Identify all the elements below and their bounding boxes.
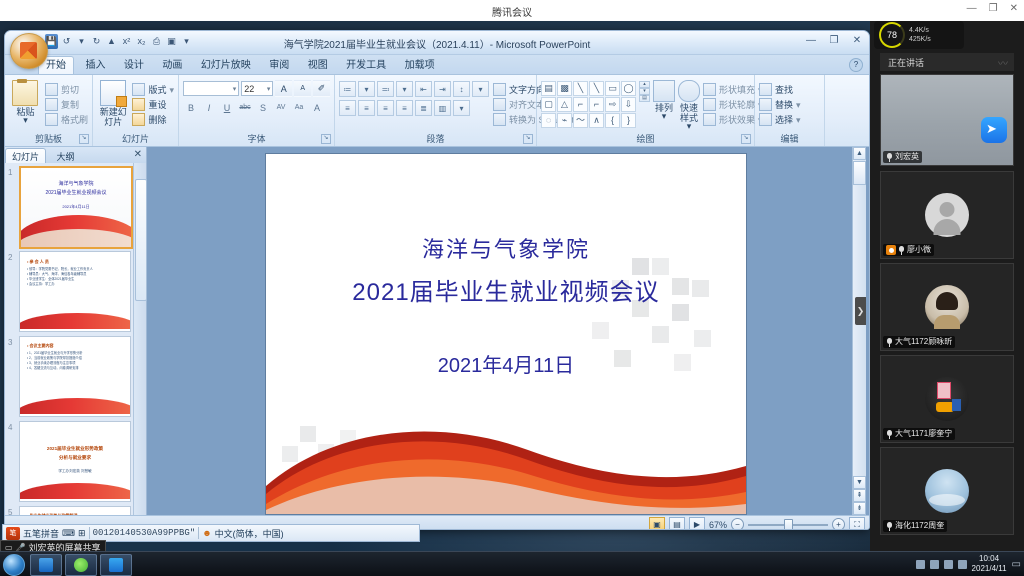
- slide-thumbnail-3[interactable]: • 会议主要内容 • 1、2021届毕业生就业与升学形势分析 • 2、当前就业政…: [19, 336, 131, 417]
- scroll-up-icon[interactable]: ▲: [853, 147, 866, 160]
- start-button[interactable]: [3, 554, 25, 576]
- layout-icon: [132, 83, 145, 96]
- powerpoint-window: 💾 ↺ ▾ ↻ ▲ x² x₂ ⎙ ▣ ▾ 海气学院2021届毕业生就业会议（2…: [4, 30, 870, 530]
- slide-number: 2: [8, 253, 12, 262]
- normal-view-button[interactable]: ▣: [649, 517, 665, 530]
- shape-oval-icon[interactable]: ◯: [621, 81, 636, 96]
- shape-arrow-right-icon[interactable]: ⇨: [605, 97, 620, 112]
- clock-date: 2021/4/11: [972, 564, 1007, 574]
- slide-thumbnail-1[interactable]: 海洋与气象学院 2021届毕业生就业视频会议 2021年4月11日: [19, 166, 133, 249]
- speaking-indicator: 正在讲话 〰: [880, 53, 1014, 71]
- shape-outline-label: 形状轮廓: [719, 99, 755, 111]
- tray-icon[interactable]: [930, 560, 939, 569]
- bullets-button[interactable]: ≔: [339, 81, 356, 97]
- powerpoint-window-controls: — ❐ ✕: [804, 34, 864, 48]
- network-quality-ring: 78: [879, 22, 905, 48]
- help-icon[interactable]: ?: [849, 58, 863, 72]
- copy-button[interactable]: 复制: [45, 97, 88, 112]
- windows-taskbar: 10:04 2021/4/11 ▭: [0, 551, 1024, 576]
- participant-tile[interactable]: 大气1172顾咏昕: [880, 263, 1014, 351]
- scroll-thumb[interactable]: [853, 161, 866, 185]
- slide-edit-area[interactable]: 海洋与气象学院 2021届毕业生就业视频会议 2021年4月11日 ▲: [147, 147, 869, 515]
- thumbnail-list[interactable]: 1 海洋与气象学院 2021届毕业生就业视频会议 2021年4月11日 2: [5, 163, 134, 515]
- slide-decoration-wave: [266, 374, 746, 514]
- slide-vertical-scrollbar[interactable]: ▲ ▼ ⇞ ⇟: [852, 147, 866, 515]
- participant-tile[interactable]: 廖小微: [880, 171, 1014, 259]
- volume-icon[interactable]: [958, 560, 967, 569]
- slide-thumbnail-2[interactable]: • 参 会 人 员 • 领导：学院党委书记、院长，就业工作负责人 • 辅导员：大…: [19, 251, 131, 332]
- shape-angle-icon[interactable]: ∧: [589, 113, 604, 128]
- align-left-button[interactable]: ≡: [339, 100, 356, 116]
- font-size-input[interactable]: 22 ▾: [241, 81, 273, 96]
- select-label: 选择: [775, 114, 793, 126]
- scroll-down-icon[interactable]: ▼: [853, 476, 866, 489]
- zoom-slider[interactable]: [748, 519, 828, 530]
- participant-name-badge: 大气1171廖奎宁: [883, 428, 955, 440]
- participant-name-badge: 刘宏英: [883, 151, 922, 163]
- panel-scrollbar[interactable]: [133, 163, 146, 515]
- group-label-font: 字体: [179, 132, 334, 145]
- font-size-value: 22: [244, 84, 267, 94]
- bullets-dropdown-icon[interactable]: ▾: [358, 81, 375, 97]
- mic-icon: [898, 246, 905, 255]
- participant-tile[interactable]: ➤ 刘宏英: [880, 74, 1014, 166]
- shape-fill-icon: [703, 83, 716, 96]
- drawing-dialog-launcher[interactable]: ↘: [741, 134, 751, 144]
- close-icon[interactable]: ✕: [1010, 3, 1018, 15]
- thumbnail-item[interactable]: 1 海洋与气象学院 2021届毕业生就业视频会议 2021年4月11日: [5, 163, 134, 248]
- change-case-button[interactable]: Aa: [291, 100, 307, 115]
- powerpoint-workspace: 幻灯片 大纲 ✕ 1 海洋与气象学院 2021届毕业生就业视频会议 2021年4…: [5, 147, 869, 515]
- paste-dropdown-icon[interactable]: ▾: [23, 115, 28, 125]
- underline-button[interactable]: U: [219, 100, 235, 115]
- ribbon-group-paragraph: ≔ ▾ ≕ ▾ ⇤ ⇥ ↕ ▾ ≡ ≡ ≡ ≡ ≣: [335, 75, 537, 146]
- reset-icon: [132, 98, 145, 111]
- status-right-controls: ▣ ▤ ▶ 67% − + ⛶: [649, 517, 865, 530]
- slide-subtitle: 2021届毕业生就业视频会议: [266, 272, 746, 307]
- numbering-dropdown-icon[interactable]: ▾: [396, 81, 413, 97]
- participant-name: 大气1172顾咏昕: [895, 337, 952, 347]
- font-dialog-launcher[interactable]: ↘: [321, 134, 331, 144]
- tab-design[interactable]: 设计: [117, 56, 151, 74]
- close-panel-icon[interactable]: ✕: [134, 149, 142, 161]
- slide-show-view-button[interactable]: ▶: [689, 517, 705, 530]
- mic-icon: [886, 153, 893, 162]
- zoom-level: 67%: [709, 520, 727, 530]
- ribbon-group-slides: 新建幻灯片 版式 ▾ 重设 删除: [93, 75, 179, 146]
- shape-picture-icon[interactable]: ▩: [557, 81, 572, 96]
- tencent-meeting-title: 腾讯会议: [0, 4, 1024, 19]
- justify-button[interactable]: ≡: [396, 100, 413, 116]
- zoom-in-button[interactable]: +: [832, 518, 845, 530]
- replace-label: 替换: [775, 99, 793, 111]
- ribbon-group-drawing: ▤ ▩ ╲ ╲ ▭ ◯ ▢ △ ⌐ ⌐ ⇨ ⇩: [537, 75, 755, 146]
- default-avatar: [925, 193, 969, 237]
- participant-name-badge: 大气1172顾咏昕: [883, 336, 955, 348]
- copy-icon: [45, 98, 58, 111]
- select-button[interactable]: 选择 ▾: [759, 112, 820, 127]
- thumbnail-item[interactable]: 5 • 毕业生就业形势与政策解读 • 高校毕业生人数再创新高，就业竞争压力加大: [5, 503, 134, 515]
- replace-button[interactable]: 替换 ▾: [759, 97, 820, 112]
- thumbnail-item[interactable]: 4 2021届毕业生就业形势政策 分析与就业要求 学工办刘宏英 刘慧敏: [5, 418, 134, 503]
- quick-styles-label: 快速样式: [678, 103, 700, 123]
- share-badge-icon: ➤: [981, 117, 1007, 143]
- tab-developer[interactable]: 开发工具: [339, 56, 393, 74]
- paste-icon: [12, 80, 38, 106]
- tab-addins[interactable]: 加载项: [398, 56, 442, 74]
- scroll-bottom-controls: ▼ ⇞ ⇟: [853, 476, 866, 515]
- speaking-label: 正在讲话: [888, 56, 924, 69]
- tencent-meeting-icon: [109, 558, 123, 572]
- group-label-paragraph: 段落: [335, 132, 536, 145]
- fit-to-window-button[interactable]: ⛶: [849, 517, 865, 530]
- photo-avatar: [925, 377, 969, 421]
- current-slide[interactable]: 海洋与气象学院 2021届毕业生就业视频会议 2021年4月11日: [265, 153, 747, 515]
- show-desktop-icon[interactable]: ▭: [1012, 559, 1021, 570]
- strikethrough-button[interactable]: abc: [237, 100, 253, 115]
- increase-indent-button[interactable]: ⇥: [434, 81, 451, 97]
- shape-effects-button[interactable]: 形状效果 ▾: [703, 112, 763, 127]
- shape-curve-icon[interactable]: 〜: [573, 113, 588, 128]
- expand-pane-handle[interactable]: ❯: [855, 297, 866, 325]
- group-label-slides: 幻灯片: [93, 132, 178, 145]
- reset-label: 重设: [148, 99, 166, 111]
- shadow-button[interactable]: S: [255, 100, 271, 115]
- powerpoint-title: 海气学院2021届毕业生就业会议（2021.4.11）- Microsoft P…: [5, 36, 869, 51]
- ime-name: 五笔拼音: [23, 527, 59, 540]
- distribute-button[interactable]: ≣: [415, 100, 432, 116]
- columns-dropdown-icon[interactable]: ▾: [453, 100, 470, 116]
- minimize-icon[interactable]: —: [804, 34, 818, 48]
- tab-slideshow[interactable]: 幻灯片放映: [194, 56, 258, 74]
- shape-outline-button[interactable]: 形状轮廓 ▾: [703, 97, 763, 112]
- participant-name-badge: 廖小微: [883, 244, 934, 256]
- font-color-button[interactable]: A: [309, 100, 325, 115]
- ribbon-body: 粘贴 ▾ 剪切 复制 格式刷: [5, 75, 869, 147]
- format-painter-label: 格式刷: [61, 114, 88, 126]
- ime-language: 中文(简体，中国): [215, 527, 284, 540]
- participant-name-badge: 海化1172周奎: [883, 520, 947, 532]
- ime-separator: [89, 527, 90, 539]
- slide-number: 5: [8, 508, 12, 515]
- shape-triangle-icon[interactable]: △: [557, 97, 572, 112]
- speaker-photo: [922, 91, 972, 153]
- shape-cloud-icon[interactable]: ◌: [541, 113, 556, 128]
- shapes-scroll-up-icon[interactable]: ▴: [639, 81, 650, 88]
- shape-line-icon[interactable]: ╲: [573, 81, 588, 96]
- shape-elbow-icon[interactable]: ⌐: [573, 97, 588, 112]
- office-button[interactable]: [10, 33, 48, 69]
- taskbar-item-wechat[interactable]: [65, 554, 97, 576]
- cut-label: 剪切: [61, 84, 79, 96]
- tab-insert[interactable]: 插入: [78, 56, 112, 74]
- ribbon-group-font: ▾ 22 ▾ A A ✐ B I U abc: [179, 75, 335, 146]
- clipboard-dialog-launcher[interactable]: ↘: [79, 134, 89, 144]
- sound-wave-icon: 〰: [998, 55, 1008, 70]
- format-painter-icon: [45, 113, 58, 126]
- scissors-icon: [45, 83, 58, 96]
- layout-label: 版式: [148, 84, 166, 96]
- slide-number: 4: [8, 423, 12, 432]
- ribbon-tabs: 开始 插入 设计 动画 幻灯片放映 审阅 视图 开发工具 加载项 ?: [5, 55, 869, 75]
- participant-tile[interactable]: 大气1171廖奎宁: [880, 355, 1014, 443]
- character-spacing-button[interactable]: AV: [273, 100, 289, 115]
- find-button[interactable]: 查找: [759, 82, 820, 97]
- slide-thumbnail-5[interactable]: • 毕业生就业形势与政策解读 • 高校毕业生人数再创新高，就业竞争压力加大: [19, 506, 131, 515]
- zoom-out-button[interactable]: −: [731, 518, 744, 530]
- ribbon-group-editing: 查找 替换 ▾ 选择 ▾ 编辑: [755, 75, 825, 146]
- network-status-badge: 78 4.4K/s 425K/s: [874, 21, 964, 49]
- participant-name: 廖小微: [907, 245, 931, 255]
- minimize-icon[interactable]: —: [967, 3, 977, 15]
- new-slide-icon: [100, 80, 126, 106]
- panel-scroll-thumb[interactable]: [135, 179, 147, 301]
- numbering-button[interactable]: ≕: [377, 81, 394, 97]
- powerpoint-titlebar: 💾 ↺ ▾ ↻ ▲ x² x₂ ⎙ ▣ ▾ 海气学院2021届毕业生就业会议（2…: [5, 31, 869, 55]
- new-slide-label: 新建幻灯片: [97, 107, 129, 127]
- explorer-icon: [39, 558, 53, 572]
- taskbar-item-tencent-meeting[interactable]: [100, 554, 132, 576]
- slide-number: 1: [8, 168, 12, 177]
- tab-view[interactable]: 视图: [301, 56, 335, 74]
- maximize-icon[interactable]: ❐: [989, 3, 998, 15]
- shape-brace-left-icon[interactable]: {: [605, 113, 620, 128]
- next-slide-icon[interactable]: ⇟: [853, 502, 866, 515]
- font-name-input[interactable]: ▾: [183, 81, 239, 96]
- delete-icon: [132, 113, 145, 126]
- line-spacing-button[interactable]: ↕: [453, 81, 470, 97]
- clock-time: 10:04: [972, 554, 1007, 564]
- thumbnail-item[interactable]: 2 • 参 会 人 员 • 领导：学院党委书记、院长，就业工作负责人 • 辅导员…: [5, 248, 134, 333]
- ribbon-group-clipboard: 粘贴 ▾ 剪切 复制 格式刷: [5, 75, 93, 146]
- slide-thumbnail-panel: 幻灯片 大纲 ✕ 1 海洋与气象学院 2021届毕业生就业视频会议 2021年4…: [5, 147, 147, 515]
- tray-icon[interactable]: [916, 560, 925, 569]
- participants-rail: 78 4.4K/s 425K/s 正在讲话 〰 ➤ 刘宏英: [870, 21, 1024, 552]
- align-center-button[interactable]: ≡: [358, 100, 375, 116]
- shape-connector-icon[interactable]: ⌐: [589, 97, 604, 112]
- close-icon[interactable]: ✕: [850, 34, 864, 48]
- cut-button[interactable]: 剪切: [45, 82, 88, 97]
- host-icon: [886, 245, 896, 255]
- format-painter-button[interactable]: 格式刷: [45, 112, 88, 127]
- network-percent: 78: [887, 30, 897, 40]
- participant-tile[interactable]: 海化1172周奎: [880, 447, 1014, 535]
- panel-tabs: 幻灯片 大纲 ✕: [5, 147, 146, 164]
- participant-name: 大气1171廖奎宁: [895, 429, 952, 439]
- smartart-icon: [493, 113, 506, 126]
- keyboard-icon[interactable]: ⌨: [62, 528, 75, 539]
- slide-title: 海洋与气象学院: [266, 232, 746, 264]
- grow-font-button[interactable]: A: [275, 80, 292, 97]
- slide-number: 3: [8, 338, 12, 347]
- group-label-drawing: 绘图: [537, 132, 754, 145]
- screen-root: 腾讯会议 — ❐ ✕ 💾 ↺ ▾ ↻ ▲ x² x₂ ⎙ ▣ ▾: [0, 0, 1024, 576]
- slide-sorter-view-button[interactable]: ▤: [669, 517, 685, 530]
- network-speeds: 4.4K/s 425K/s: [909, 27, 931, 44]
- shrink-font-button[interactable]: A: [294, 80, 311, 97]
- decrease-indent-button[interactable]: ⇤: [415, 81, 432, 97]
- zoom-handle[interactable]: [784, 519, 793, 530]
- mic-icon: [886, 430, 893, 439]
- reset-button[interactable]: 重设: [132, 97, 174, 112]
- align-text-icon: [493, 98, 506, 111]
- delete-label: 删除: [148, 114, 166, 126]
- clear-formatting-button[interactable]: ✐: [313, 80, 330, 97]
- group-label-editing: 编辑: [755, 132, 824, 145]
- thumbnail-item[interactable]: 3 • 会议主要内容 • 1、2021届毕业生就业与升学形势分析 • 2、当前就…: [5, 333, 134, 418]
- find-label: 查找: [775, 84, 793, 96]
- participant-name: 海化1172周奎: [895, 521, 944, 531]
- bold-button[interactable]: B: [183, 100, 199, 115]
- upload-speed: 4.4K/s: [909, 27, 931, 35]
- shape-brace-right-icon[interactable]: }: [621, 113, 636, 128]
- shape-rect-icon[interactable]: ▭: [605, 81, 620, 96]
- shape-arrow-down-icon[interactable]: ⇩: [621, 97, 636, 112]
- soft-keyboard-icon[interactable]: ⊞: [78, 528, 86, 539]
- align-right-button[interactable]: ≡: [377, 100, 394, 116]
- download-speed: 425K/s: [909, 36, 931, 44]
- shape-freeform-icon[interactable]: ⌁: [557, 113, 572, 128]
- shapes-more-icon[interactable]: ▤: [639, 95, 650, 102]
- shapes-scroll-down-icon[interactable]: ▾: [639, 88, 650, 95]
- network-icon[interactable]: [944, 560, 953, 569]
- tencent-meeting-window-controls: — ❐ ✕: [967, 3, 1018, 15]
- shape-square-icon[interactable]: ▢: [541, 97, 556, 112]
- taskbar-clock[interactable]: 10:04 2021/4/11: [972, 554, 1007, 574]
- photo-avatar: [925, 285, 969, 329]
- tab-review[interactable]: 审阅: [262, 56, 296, 74]
- copy-label: 复制: [61, 99, 79, 111]
- emoji-icon[interactable]: ☻: [202, 528, 211, 538]
- shape-effects-icon: [703, 113, 716, 126]
- restore-icon[interactable]: ❐: [827, 34, 841, 48]
- columns-button[interactable]: ▥: [434, 100, 451, 116]
- shape-fill-label: 形状填充: [719, 84, 755, 96]
- shape-effects-label: 形状效果: [719, 114, 755, 126]
- mic-icon: [886, 338, 893, 347]
- layout-button[interactable]: 版式 ▾: [132, 82, 174, 97]
- delete-slide-button[interactable]: 删除: [132, 112, 174, 127]
- paragraph-dialog-launcher[interactable]: ↘: [523, 134, 533, 144]
- previous-slide-icon[interactable]: ⇞: [853, 489, 866, 502]
- tencent-meeting-titlebar: 腾讯会议 — ❐ ✕: [0, 0, 1024, 21]
- shape-outline-icon: [703, 98, 716, 111]
- shape-arrow-icon[interactable]: ╲: [589, 81, 604, 96]
- wechat-icon: [74, 558, 88, 572]
- mic-icon: [886, 522, 893, 531]
- taskbar-item-explorer[interactable]: [30, 554, 62, 576]
- replace-icon: [759, 98, 772, 111]
- search-icon: [759, 83, 772, 96]
- arrange-icon: [653, 80, 675, 102]
- participant-name: 刘宏英: [895, 152, 919, 162]
- slide-thumbnail-4[interactable]: 2021届毕业生就业形势政策 分析与就业要求 学工办刘宏英 刘慧敏: [19, 421, 131, 502]
- ime-code-text: 00120140530A99PPBG": [93, 528, 196, 538]
- italic-button[interactable]: I: [201, 100, 217, 115]
- select-icon: [759, 113, 772, 126]
- quick-styles-icon: [678, 80, 700, 102]
- system-tray: 10:04 2021/4/11 ▭: [916, 552, 1021, 576]
- text-direction-icon: [493, 83, 506, 96]
- photo-avatar: [925, 469, 969, 513]
- shape-fill-button[interactable]: 形状填充 ▾: [703, 82, 763, 97]
- ime-logo-icon: 笔: [6, 527, 20, 540]
- line-spacing-dropdown-icon[interactable]: ▾: [472, 81, 489, 97]
- ime-separator: [198, 527, 199, 539]
- tab-animations[interactable]: 动画: [155, 56, 189, 74]
- shape-textbox-icon[interactable]: ▤: [541, 81, 556, 96]
